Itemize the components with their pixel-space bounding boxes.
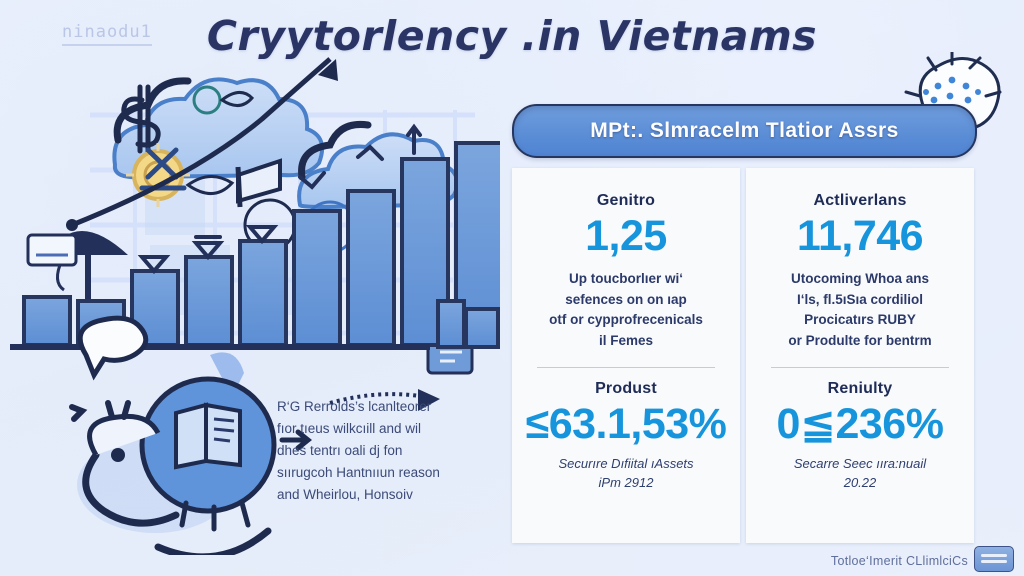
left-card-top-section: Genitro 1,25 Up toucborlıer wi‘ sefences… (522, 182, 730, 351)
body-line: or Produlte for bentrm (788, 331, 931, 352)
sub-line: 20.22 (794, 474, 926, 493)
caption-line: R‘G Rerrolds’s lcanlteorer (277, 396, 492, 418)
left-stat-card: Genitro 1,25 Up toucborlıer wi‘ sefences… (512, 168, 740, 543)
illustration-caption: R‘G Rerrolds’s lcanlteorer fıor tıeus wi… (277, 396, 492, 506)
page-title: Cryytorlency .in Vietnams (0, 12, 1024, 60)
section-banner[interactable]: MPt:. Slmracelm Tlatior Assrs (512, 104, 977, 158)
stat-cards-row: Genitro 1,25 Up toucborlıer wi‘ sefences… (512, 168, 974, 543)
right-bottom-sub: Secarre Seec ııra:nuail 20.22 (794, 455, 926, 493)
caption-line: and Wheirlou, Honsoiv (277, 484, 492, 506)
right-top-label: Actliverlans (813, 192, 906, 210)
left-bottom-sub: Securıre Dıfiital ıAssets iPm 2912 (558, 455, 693, 493)
banner-label: MPt:. Slmracelm Tlatior Assrs (590, 119, 898, 143)
right-top-value: 11,746 (797, 214, 923, 259)
footer-text: Totloe‘Imerit CLlimlciCs (831, 554, 968, 568)
sub-line: Secarre Seec ııra:nuail (794, 455, 926, 474)
body-line: otf or cypprofrecenicals (549, 310, 703, 331)
caption-line: fıor tıeus wilkcıill and wil (277, 418, 492, 440)
body-line: il Femes (549, 331, 703, 352)
body-line: I‘ls, fl.5ıSıa cordiliol (788, 290, 931, 311)
right-top-body: Utocoming Whoa ans I‘ls, fl.5ıSıa cordil… (788, 269, 931, 351)
right-card-divider (771, 367, 950, 368)
infographic-canvas: ninaodu1 Cryytorlency .in Vietnams (0, 0, 1024, 576)
left-bottom-label: Produst (595, 380, 657, 398)
magnifier-book-icon (77, 352, 274, 555)
left-card-bottom-section: Produst ≤63.1,53% Securıre Dıfiital ıAss… (522, 370, 730, 493)
sub-line: iPm 2912 (558, 474, 693, 493)
card-icon (28, 235, 76, 265)
body-line: Procicatırs RUBY (788, 310, 931, 331)
right-card-bottom-section: Reniulty 0≦236% Secarre Seec ııra:nuail … (756, 370, 964, 493)
trend-start-dot (66, 219, 78, 231)
body-line: Utocoming Whoa ans (788, 269, 931, 290)
caption-line: sıırugcoh Hantnııun reason (277, 462, 492, 484)
speech-bubble-icon (80, 318, 146, 375)
left-bottom-value: ≤63.1,53% (526, 402, 727, 447)
sub-line: Securıre Dıfiital ıAssets (558, 455, 693, 474)
right-bottom-value: 0≦236% (777, 402, 944, 447)
left-card-divider (537, 367, 716, 368)
left-top-value: 1,25 (585, 214, 667, 259)
body-line: Up toucborlıer wi‘ (549, 269, 703, 290)
right-stat-card: Actliverlans 11,746 Utocoming Whoa ans I… (746, 168, 974, 543)
left-top-body: Up toucborlıer wi‘ sefences on on ıap ot… (549, 269, 703, 351)
left-top-label: Genitro (597, 192, 655, 210)
body-line: sefences on on ıap (549, 290, 703, 311)
caption-line: dhes tentrı oali dj fon (277, 440, 492, 462)
right-bottom-label: Reniulty (828, 380, 893, 398)
right-card-top-section: Actliverlans 11,746 Utocoming Whoa ans I… (756, 182, 964, 351)
card-badge-icon (974, 546, 1014, 572)
